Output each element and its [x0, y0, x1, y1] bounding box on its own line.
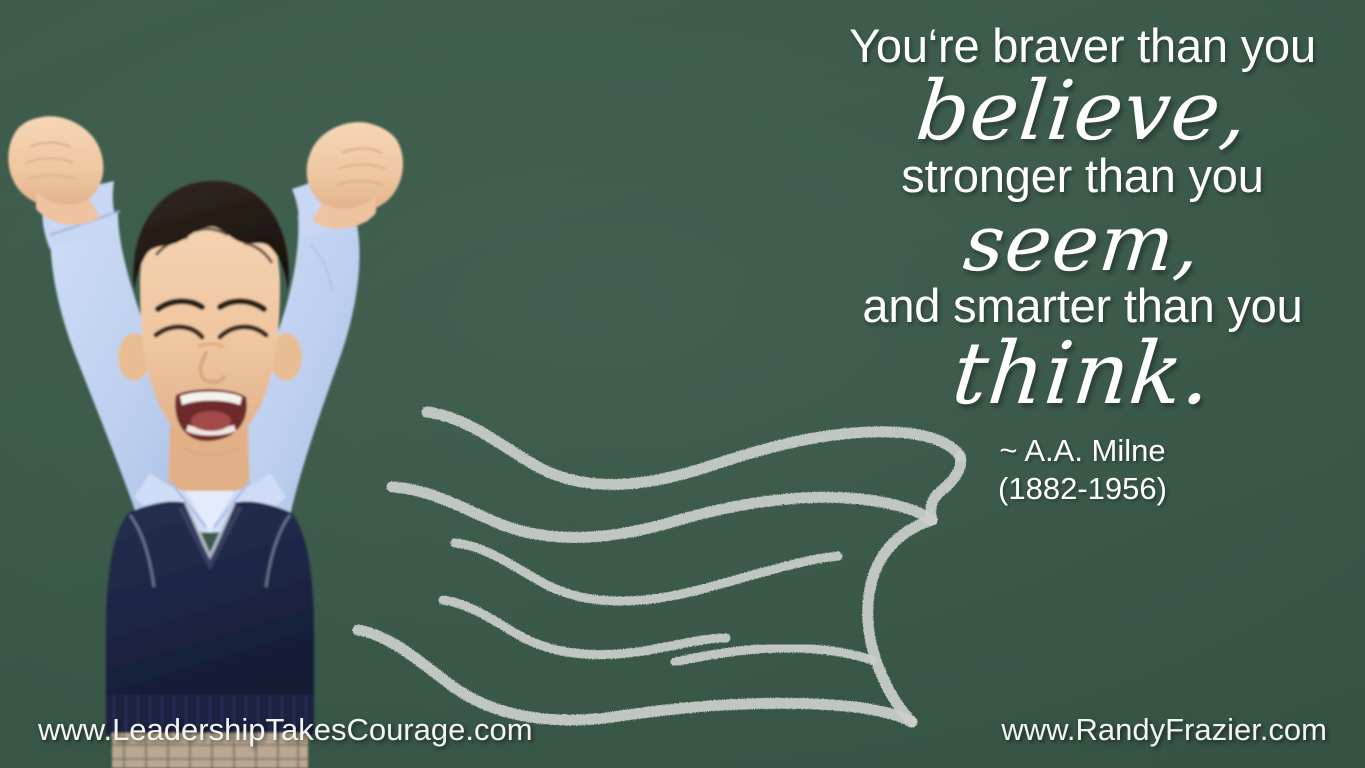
- quote-graphic-canvas: You‘re braver than you believe, stronger…: [0, 0, 1365, 768]
- attribution-block: ~ A.A. Milne (1882-1956): [805, 432, 1360, 508]
- attribution-author: ~ A.A. Milne: [805, 432, 1360, 470]
- quote-line-6-script: think.: [800, 330, 1364, 418]
- cheering-boy-photo: [0, 95, 420, 768]
- quote-line-2-script: believe,: [800, 68, 1364, 156]
- attribution-dates: (1882-1956): [805, 470, 1360, 508]
- quote-block: You‘re braver than you believe, stronger…: [805, 18, 1360, 508]
- footer-url-right[interactable]: www.RandyFrazier.com: [1001, 712, 1327, 748]
- quote-line-4-script: seem,: [800, 200, 1364, 288]
- footer-url-left[interactable]: www.LeadershipTakesCourage.com: [38, 712, 533, 748]
